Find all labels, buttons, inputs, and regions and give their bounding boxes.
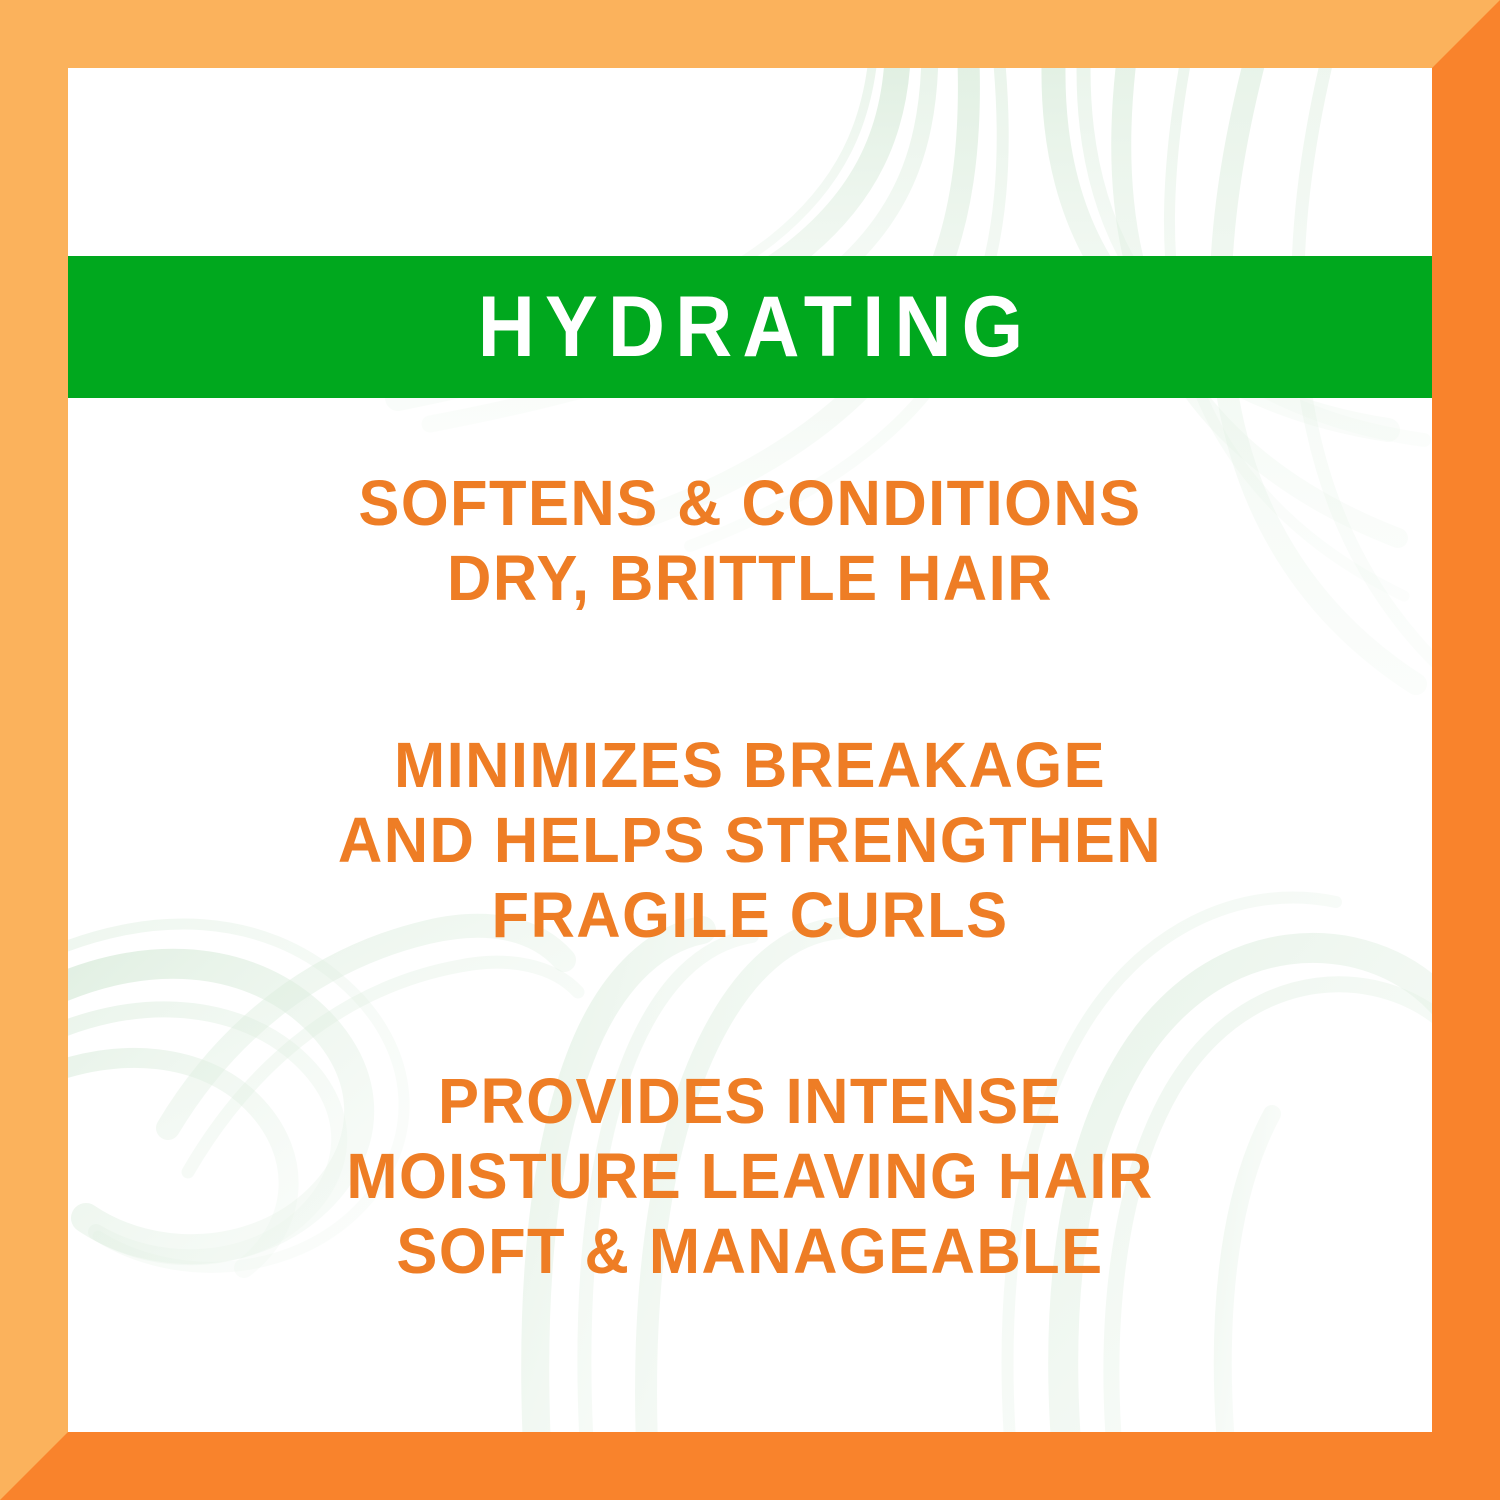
claim-intense-moisture: PROVIDES INTENSE MOISTURE LEAVING HAIR S… bbox=[95, 1064, 1404, 1289]
claim-line: DRY, BRITTLE HAIR bbox=[95, 541, 1404, 616]
claim-line: PROVIDES INTENSE bbox=[95, 1064, 1404, 1139]
hydrating-banner: HYDRATING bbox=[68, 256, 1432, 398]
claims-list: SOFTENS & CONDITIONS DRY, BRITTLE HAIR M… bbox=[68, 398, 1432, 1432]
claim-line: MOISTURE LEAVING HAIR bbox=[95, 1139, 1404, 1214]
claim-line: AND HELPS STRENGTHEN bbox=[95, 803, 1404, 878]
product-benefits-poster: HYDRATING SOFTENS & CONDITIONS DRY, BRIT… bbox=[0, 0, 1500, 1500]
claim-line: FRAGILE CURLS bbox=[95, 878, 1404, 953]
banner-title: HYDRATING bbox=[467, 284, 1033, 370]
claim-line: SOFT & MANAGEABLE bbox=[95, 1214, 1404, 1289]
claim-minimizes-breakage: MINIMIZES BREAKAGE AND HELPS STRENGTHEN … bbox=[95, 728, 1404, 953]
claim-line: SOFTENS & CONDITIONS bbox=[95, 466, 1404, 541]
claim-softens-conditions: SOFTENS & CONDITIONS DRY, BRITTLE HAIR bbox=[95, 466, 1404, 616]
claim-line: MINIMIZES BREAKAGE bbox=[95, 728, 1404, 803]
